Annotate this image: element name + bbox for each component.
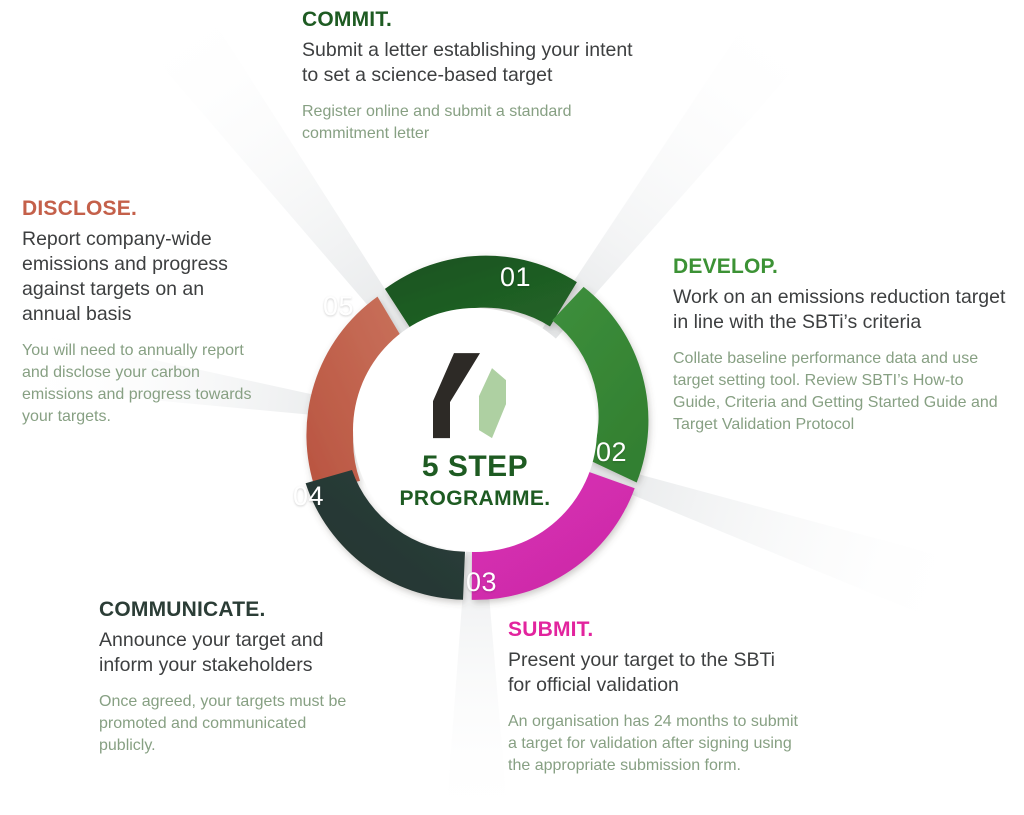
step-heading-develop: DEVELOP.: [673, 255, 1013, 278]
step-note-commit: Register online and submit a standard co…: [302, 101, 642, 145]
step-main-commit: Submit a letter establishing your intent…: [302, 38, 642, 88]
step-block-disclose: DISCLOSE. Report company-wide emissions …: [22, 197, 257, 428]
infographic-canvas: 01 02 03 04 05 5 STEP PROGRAMME. COMMIT.…: [0, 0, 1024, 815]
step-main-communicate: Announce your target and inform your sta…: [99, 628, 349, 678]
step-block-submit: SUBMIT. Present your target to the SBTi …: [508, 618, 798, 777]
step-main-submit: Present your target to the SBTi for offi…: [508, 648, 798, 698]
step-note-disclose: You will need to annually report and dis…: [22, 340, 257, 428]
step-block-develop: DEVELOP. Work on an emissions reduction …: [673, 255, 1013, 436]
step-block-commit: COMMIT. Submit a letter establishing you…: [302, 8, 642, 145]
step-heading-submit: SUBMIT.: [508, 618, 798, 641]
wheel-inner-disc: [353, 308, 597, 552]
step-note-develop: Collate baseline performance data and us…: [673, 348, 1013, 436]
step-main-develop: Work on an emissions reduction target in…: [673, 285, 1013, 335]
step-heading-communicate: COMMUNICATE.: [99, 598, 349, 621]
step-heading-disclose: DISCLOSE.: [22, 197, 257, 220]
step-heading-commit: COMMIT.: [302, 8, 642, 31]
step-note-communicate: Once agreed, your targets must be promot…: [99, 691, 349, 757]
step-note-submit: An organisation has 24 months to submit …: [508, 711, 798, 777]
step-main-disclose: Report company-wide emissions and progre…: [22, 227, 257, 327]
step-block-communicate: COMMUNICATE. Announce your target and in…: [99, 598, 349, 757]
